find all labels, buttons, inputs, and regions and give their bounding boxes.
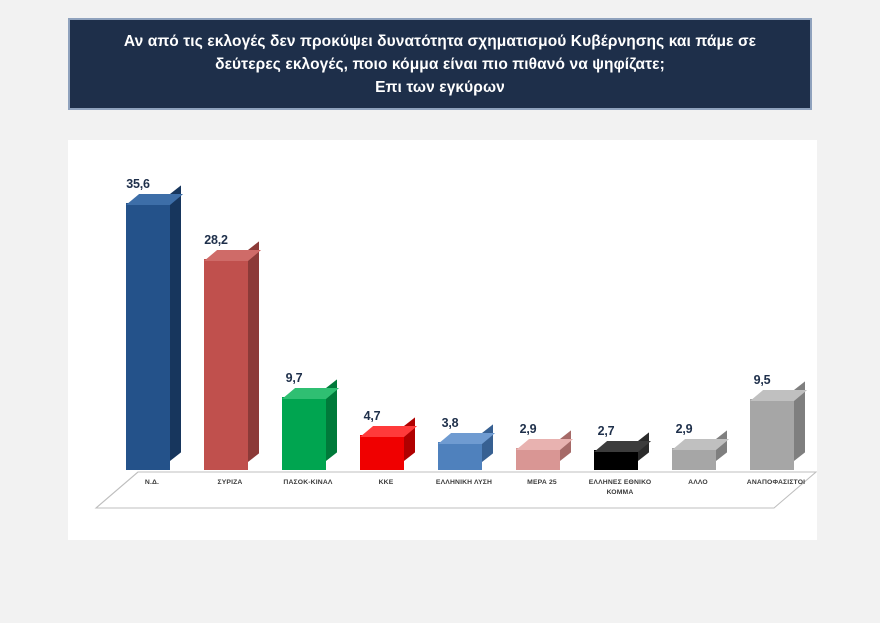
bar-value-label: 2,7 xyxy=(570,424,642,438)
bar-front-face xyxy=(282,397,326,470)
bar-8 xyxy=(672,448,716,470)
bar-value-label: 28,2 xyxy=(180,233,252,247)
bar-5 xyxy=(438,442,482,471)
bar-category-label: ΠΑΣΟΚ-ΚΙΝΑΛ xyxy=(263,478,353,488)
bar-group: 28,2ΣΥΡΙΖΑ xyxy=(194,170,266,470)
bar-value-label: 2,9 xyxy=(492,422,564,436)
party-logos-strip: ΝΕΑ ΔΗΜΟΚΡΑΤΙΑ ΣΥΡΙΖΑ ΠΡΟΟΔΕΥΤΙΚΗ ΣΥΜΜΑΧ… xyxy=(0,540,880,623)
bar-category-label: ΣΥΡΙΖΑ xyxy=(185,478,275,488)
bar-6 xyxy=(516,448,560,470)
bar-front-face xyxy=(516,448,560,470)
bar-3 xyxy=(282,397,326,470)
bar-category-label: ΕΛΛΗΝΙΚΗ ΛΥΣΗ xyxy=(419,478,509,488)
bar-front-face xyxy=(750,399,794,470)
bar-category-label: ΑΛΛΟ xyxy=(653,478,743,488)
bar-category-label: ΜΕΡΑ 25 xyxy=(497,478,587,488)
bar-value-label: 3,8 xyxy=(414,416,486,430)
bar-front-face xyxy=(204,259,248,471)
bar-group: 2,9ΜΕΡΑ 25 xyxy=(506,170,578,470)
bar-4 xyxy=(360,435,404,470)
bar-2 xyxy=(204,259,248,471)
bar-category-label: Ν.Δ. xyxy=(107,478,197,488)
chart-title-banner: Αν από τις εκλογές δεν προκύψει δυνατότη… xyxy=(68,18,812,110)
title-line-3: Επι των εγκύρων xyxy=(375,76,505,99)
bar-group: 9,7ΠΑΣΟΚ-ΚΙΝΑΛ xyxy=(272,170,344,470)
bar-group: 35,6Ν.Δ. xyxy=(116,170,188,470)
chart-card: 35,6Ν.Δ.28,2ΣΥΡΙΖΑ9,7ΠΑΣΟΚ-ΚΙΝΑΛ4,7ΚΚΕ3,… xyxy=(68,140,817,540)
bar-front-face xyxy=(360,435,404,470)
bar-7 xyxy=(594,450,638,470)
bar-front-face xyxy=(594,450,638,470)
bar-category-label: ΚΚΕ xyxy=(341,478,431,488)
bar-front-face xyxy=(438,442,482,471)
bar-1 xyxy=(126,203,170,470)
bar-group: 3,8ΕΛΛΗΝΙΚΗ ΛΥΣΗ xyxy=(428,170,500,470)
bar-side-face xyxy=(248,241,259,461)
title-line-1: Αν από τις εκλογές δεν προκύψει δυνατότη… xyxy=(124,30,756,53)
bar-category-label: ΕΛΛΗΝΕΣ ΕΘΝΙΚΟΚΟΜΜΑ xyxy=(575,478,665,497)
bar-value-label: 9,5 xyxy=(726,373,798,387)
title-line-2: δεύτερες εκλογές, ποιο κόμμα είναι πιο π… xyxy=(215,53,665,76)
bar-front-face xyxy=(672,448,716,470)
bar-value-label: 2,9 xyxy=(648,422,720,436)
bar-side-face xyxy=(170,185,181,461)
bar-group: 4,7ΚΚΕ xyxy=(350,170,422,470)
bar-group: 2,9ΑΛΛΟ xyxy=(662,170,734,470)
bar-value-label: 9,7 xyxy=(258,371,330,385)
bar-category-label: ΑΝΑΠΟΦΑΣΙΣΤΟΙ xyxy=(731,478,821,488)
bar-value-label: 4,7 xyxy=(336,409,408,423)
bar-9 xyxy=(750,399,794,470)
bar-plot-area: 35,6Ν.Δ.28,2ΣΥΡΙΖΑ9,7ΠΑΣΟΚ-ΚΙΝΑΛ4,7ΚΚΕ3,… xyxy=(98,158,798,520)
bar-value-label: 35,6 xyxy=(102,177,174,191)
bar-group: 2,7ΕΛΛΗΝΕΣ ΕΘΝΙΚΟΚΟΜΜΑ xyxy=(584,170,656,470)
poll-chart-page: Αν από τις εκλογές δεν προκύψει δυνατότη… xyxy=(0,0,880,623)
bar-group: 9,5ΑΝΑΠΟΦΑΣΙΣΤΟΙ xyxy=(740,170,812,470)
bar-front-face xyxy=(126,203,170,470)
